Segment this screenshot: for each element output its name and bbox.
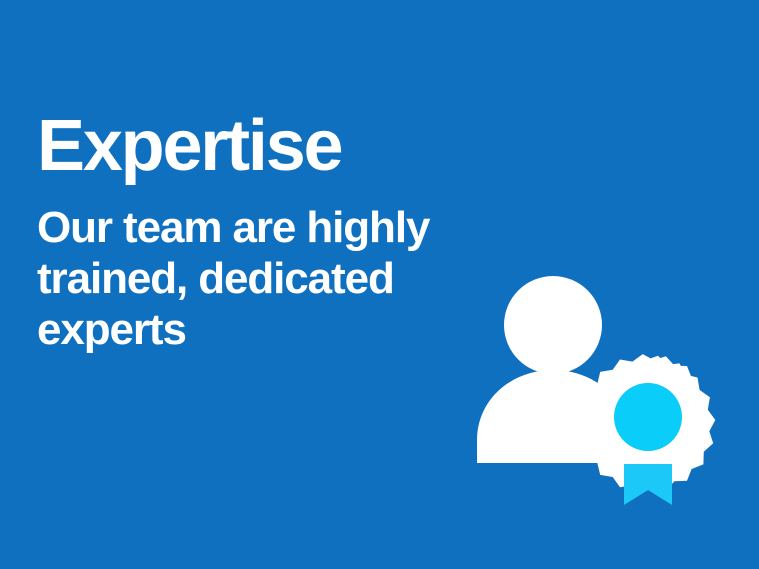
certified-expert-person-badge-icon [455, 258, 725, 518]
expertise-slide: Expertise Our team are highly trained, d… [0, 0, 759, 569]
person-head-circle [504, 276, 602, 374]
slide-text-block: Expertise Our team are highly trained, d… [37, 104, 497, 355]
medal-inner-circle [614, 383, 682, 451]
award-ribbon-tail [624, 464, 672, 505]
expertise-icon-svg [455, 258, 725, 518]
slide-subtitle: Our team are highly trained, dedicated e… [37, 188, 467, 355]
page-title: Expertise [37, 104, 497, 188]
